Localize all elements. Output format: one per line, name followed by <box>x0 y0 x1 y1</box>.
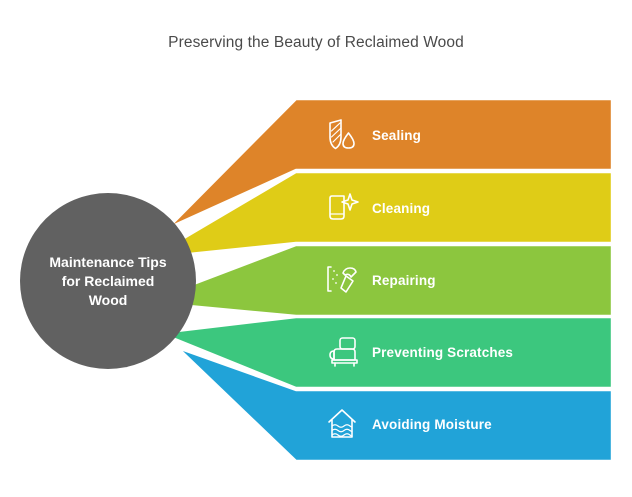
hammer-icon <box>322 260 362 300</box>
row-label-sealing: Sealing <box>372 128 421 143</box>
fan-diagram: Maintenance Tips for Reclaimed Wood <box>0 0 632 497</box>
infographic-canvas: Preserving the Beauty of Reclaimed Wood … <box>0 0 632 497</box>
row-label-cleaning: Cleaning <box>372 201 430 216</box>
row-label-avoiding-moisture: Avoiding Moisture <box>372 417 492 432</box>
house-water-icon <box>322 404 362 444</box>
sofa-icon <box>322 332 362 372</box>
shield-droplet-icon <box>322 115 362 155</box>
hub-label-line1: Maintenance Tips <box>49 254 166 270</box>
cloth-sparkle-icon <box>322 188 362 228</box>
row-label-repairing: Repairing <box>372 273 436 288</box>
hub-label-line3: Wood <box>89 292 128 308</box>
row-label-preventing-scratches: Preventing Scratches <box>372 345 513 360</box>
hub-label-line2: for Reclaimed <box>62 273 155 289</box>
